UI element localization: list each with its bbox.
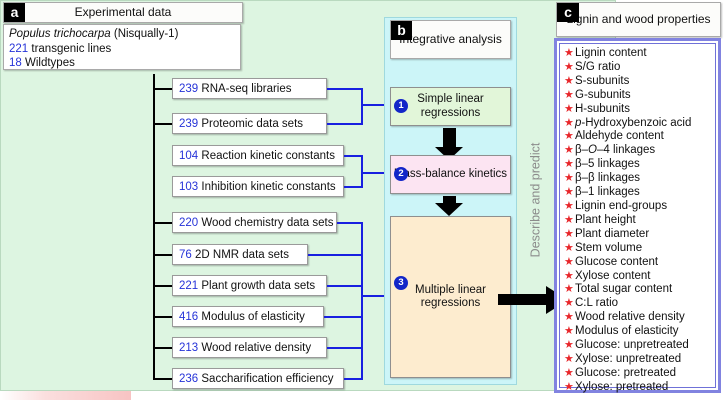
lignin-property-label: Stem volume — [575, 242, 642, 256]
dataset-count-modulus: 416 — [179, 311, 198, 323]
lignin-property-item: ★β–O–4 linkages — [564, 144, 715, 158]
lignin-property-item: ★Aldehyde content — [564, 130, 715, 144]
dataset-box-density[interactable]: 213 Wood relative density — [172, 337, 327, 358]
dataset-box-nmr[interactable]: 76 2D NMR data sets — [172, 244, 308, 265]
lignin-property-label: Lignin end-groups — [575, 200, 667, 214]
panel-a-title: Experimental data — [75, 6, 172, 19]
figure-root: Genotypes Transcripts Proteins Metabolit… — [0, 0, 724, 400]
lignin-property-item: ★Stem volume — [564, 242, 715, 256]
star-icon: ★ — [564, 339, 575, 353]
panel-c-tag: c — [557, 3, 579, 22]
panel-b-header: b Integrative analysis — [390, 20, 511, 59]
lignin-property-item: ★β–5 linkages — [564, 158, 715, 172]
step2-label: Mass-balance kinetics — [394, 168, 507, 182]
dataset-label-plant-growth: Plant growth data sets — [201, 280, 315, 292]
lignin-property-item: ★Plant height — [564, 214, 715, 228]
step1-label: Simple linear regressions — [391, 93, 510, 120]
analysis-step-simple-linear-regressions[interactable]: Simple linear regressions — [390, 87, 511, 126]
dataset-count-inhibition-kinetics: 103 — [179, 181, 198, 193]
dataset-label-proteomic: Proteomic data sets — [201, 118, 303, 130]
stub-proteomic — [153, 123, 173, 125]
lignin-property-label: Plant diameter — [575, 228, 649, 242]
dataset-count-rnaseq: 239 — [179, 83, 198, 95]
dataset-label-saccharification: Saccharification efficiency — [201, 373, 333, 385]
lignin-property-item: ★Xylose content — [564, 270, 715, 284]
dataset-label-density: Wood relative density — [201, 342, 311, 354]
lignin-property-label: S-subunits — [575, 75, 629, 89]
star-icon: ★ — [564, 200, 575, 214]
dataset-box-rnaseq[interactable]: 239 RNA-seq libraries — [172, 78, 327, 99]
star-icon: ★ — [564, 144, 575, 158]
lignin-property-label: Glucose: unpretreated — [575, 339, 689, 353]
lignin-property-item: ★p-Hydroxybenzoic acid — [564, 117, 715, 131]
lignin-property-label: β–1 linkages — [575, 186, 640, 200]
star-icon: ★ — [564, 172, 575, 186]
panel-c-title: Lignin and wood properties — [566, 13, 710, 26]
dataset-label-rnaseq: RNA-seq libraries — [201, 83, 291, 95]
arrow-step2-to-step3 — [443, 196, 456, 204]
lignin-property-item: ★Wood relative density — [564, 311, 715, 325]
lignin-property-item: ★Lignin content — [564, 47, 715, 61]
star-icon: ★ — [564, 325, 575, 339]
dataset-label-wood-chemistry: Wood chemistry data sets — [201, 217, 333, 229]
lignin-property-label: β–O–4 linkages — [575, 144, 655, 158]
star-icon: ★ — [564, 214, 575, 228]
lignin-property-label: Xylose: unpretreated — [575, 353, 681, 367]
star-icon: ★ — [564, 103, 575, 117]
dataset-count-wood-chemistry: 220 — [179, 217, 198, 229]
lignin-property-item: ★G-subunits — [564, 89, 715, 103]
stub-saccharification — [153, 378, 173, 380]
connector-density-h — [327, 347, 363, 349]
lignin-property-label: Xylose: pretreated — [575, 381, 668, 395]
lignin-property-label: Wood relative density — [575, 311, 685, 325]
step3-badge: 3 — [394, 276, 408, 290]
panel-b-tag: b — [391, 21, 412, 40]
transgenic-label: transgenic lines — [31, 43, 111, 55]
lignin-property-item: ★Glucose content — [564, 256, 715, 270]
stub-nmr — [153, 254, 173, 256]
panel-a-tag: a — [4, 3, 25, 22]
lignin-property-label: β–β linkages — [575, 172, 640, 186]
lignin-property-label: Lignin content — [575, 47, 647, 61]
lignin-property-label: β–5 linkages — [575, 158, 640, 172]
wildtype-label: Wildtypes — [25, 57, 75, 69]
dataset-box-plant-growth[interactable]: 221 Plant growth data sets — [172, 275, 327, 296]
lignin-property-label: C:L ratio — [575, 297, 618, 311]
lignin-property-item: ★H-subunits — [564, 103, 715, 117]
lignin-property-label: Glucose content — [575, 256, 658, 270]
dataset-label-modulus: Modulus of elasticity — [201, 311, 305, 323]
star-icon: ★ — [564, 75, 575, 89]
transgenic-count: 221 — [9, 43, 28, 55]
species-accession: (Nisqually-1) — [114, 28, 179, 40]
lignin-property-label: Modulus of elasticity — [575, 325, 679, 339]
analysis-step-mass-balance-kinetics[interactable]: Mass-balance kinetics — [390, 155, 511, 194]
dataset-label-reaction-kinetics: Reaction kinetic constants — [201, 150, 335, 162]
connector-nmr-h — [308, 254, 363, 256]
lignin-property-label: Total sugar content — [575, 283, 672, 297]
dataset-box-saccharification[interactable]: 236 Saccharification efficiency — [172, 368, 344, 389]
panel-c-header: c Lignin and wood properties — [556, 2, 721, 37]
lignin-property-item: ★Xylose: pretreated — [564, 381, 715, 395]
lignin-property-item: ★C:L ratio — [564, 297, 715, 311]
panel-b-title: Integrative analysis — [399, 33, 502, 46]
star-icon: ★ — [564, 242, 575, 256]
star-icon: ★ — [564, 117, 575, 131]
lignin-property-item: ★S-subunits — [564, 75, 715, 89]
dataset-count-density: 213 — [179, 342, 198, 354]
lignin-property-item: ★S/G ratio — [564, 61, 715, 75]
describe-and-predict-label: Describe and predict — [518, 0, 552, 400]
lignin-properties-box: ★Lignin content★S/G ratio★S-subunits★G-s… — [554, 38, 721, 393]
star-icon: ★ — [564, 353, 575, 367]
wildtype-count: 18 — [9, 57, 22, 69]
connector-proteomic-h — [327, 123, 363, 125]
dataset-box-proteomic[interactable]: 239 Proteomic data sets — [172, 113, 327, 134]
lignin-property-label: Xylose content — [575, 270, 650, 284]
lignin-property-item: ★Modulus of elasticity — [564, 325, 715, 339]
connector-group1-v — [361, 88, 363, 125]
lignin-property-label: G-subunits — [575, 89, 631, 103]
star-icon: ★ — [564, 61, 575, 75]
star-icon: ★ — [564, 367, 575, 381]
lignin-property-item: ★Glucose: unpretreated — [564, 339, 715, 353]
dataset-label-nmr: 2D NMR data sets — [195, 249, 289, 261]
star-icon: ★ — [564, 158, 575, 172]
star-icon: ★ — [564, 130, 575, 144]
lignin-property-item: ★Glucose: pretreated — [564, 367, 715, 381]
star-icon: ★ — [564, 311, 575, 325]
star-icon: ★ — [564, 270, 575, 284]
star-icon: ★ — [564, 89, 575, 103]
lignin-property-label: H-subunits — [575, 103, 630, 117]
lignin-property-label: Plant height — [575, 214, 636, 228]
star-icon: ★ — [564, 186, 575, 200]
connector-wood-chemistry-h — [337, 222, 363, 224]
lignin-property-label: p-Hydroxybenzoic acid — [575, 117, 691, 131]
lignin-property-item: ★β–β linkages — [564, 172, 715, 186]
star-icon: ★ — [564, 228, 575, 242]
star-icon: ★ — [564, 47, 575, 61]
panel-a-header: a Experimental data — [3, 2, 243, 23]
lignin-property-item: ★Plant diameter — [564, 228, 715, 242]
stub-density — [153, 347, 173, 349]
lignin-property-label: S/G ratio — [575, 61, 620, 75]
lignin-property-item: ★β–1 linkages — [564, 186, 715, 200]
stub-rnaseq — [153, 88, 173, 90]
stub-wood-chemistry — [153, 222, 173, 224]
dataset-count-plant-growth: 221 — [179, 280, 198, 292]
dataset-count-nmr: 76 — [179, 249, 192, 261]
stub-modulus — [153, 316, 173, 318]
dataset-count-saccharification: 236 — [179, 373, 198, 385]
lignin-property-label: Glucose: pretreated — [575, 367, 676, 381]
trunk-line — [153, 74, 155, 379]
arrow-step1-to-step2 — [443, 128, 456, 148]
dataset-label-inhibition-kinetics: Inhibition kinetic constants — [201, 181, 335, 193]
species-info-box: Populus trichocarpa (Nisqually-1) 221 tr… — [3, 24, 241, 70]
lignin-properties-list: ★Lignin content★S/G ratio★S-subunits★G-s… — [559, 43, 716, 388]
connector-plant-growth-h — [327, 285, 363, 287]
species-organism: Populus trichocarpa — [9, 28, 111, 40]
step3-label: Multiple linear regressions — [391, 284, 510, 311]
describe-and-predict-text: Describe and predict — [528, 143, 542, 258]
star-icon: ★ — [564, 381, 575, 395]
dataset-box-inhibition-kinetics[interactable]: 103 Inhibition kinetic constants — [172, 176, 344, 197]
lignin-property-item: ★Xylose: unpretreated — [564, 353, 715, 367]
lignin-property-item: ★Total sugar content — [564, 283, 715, 297]
lignin-property-item: ★Lignin end-groups — [564, 200, 715, 214]
star-icon: ★ — [564, 297, 575, 311]
connector-modulus-h — [324, 316, 363, 318]
dataset-count-reaction-kinetics: 104 — [179, 150, 198, 162]
connector-group3-v — [361, 222, 363, 380]
stub-plant-growth — [153, 285, 173, 287]
connector-rnaseq-h — [327, 88, 363, 90]
step2-badge: 2 — [394, 167, 408, 181]
dataset-box-modulus[interactable]: 416 Modulus of elasticity — [172, 306, 324, 327]
dataset-box-reaction-kinetics[interactable]: 104 Reaction kinetic constants — [172, 145, 344, 166]
lignin-property-label: Aldehyde content — [575, 130, 664, 144]
dataset-count-proteomic: 239 — [179, 118, 198, 130]
star-icon: ★ — [564, 256, 575, 270]
analysis-step-multiple-linear-regressions[interactable]: Multiple linear regressions — [390, 216, 511, 378]
dataset-box-wood-chemistry[interactable]: 220 Wood chemistry data sets — [172, 212, 337, 233]
star-icon: ★ — [564, 283, 575, 297]
step1-badge: 1 — [394, 99, 408, 113]
